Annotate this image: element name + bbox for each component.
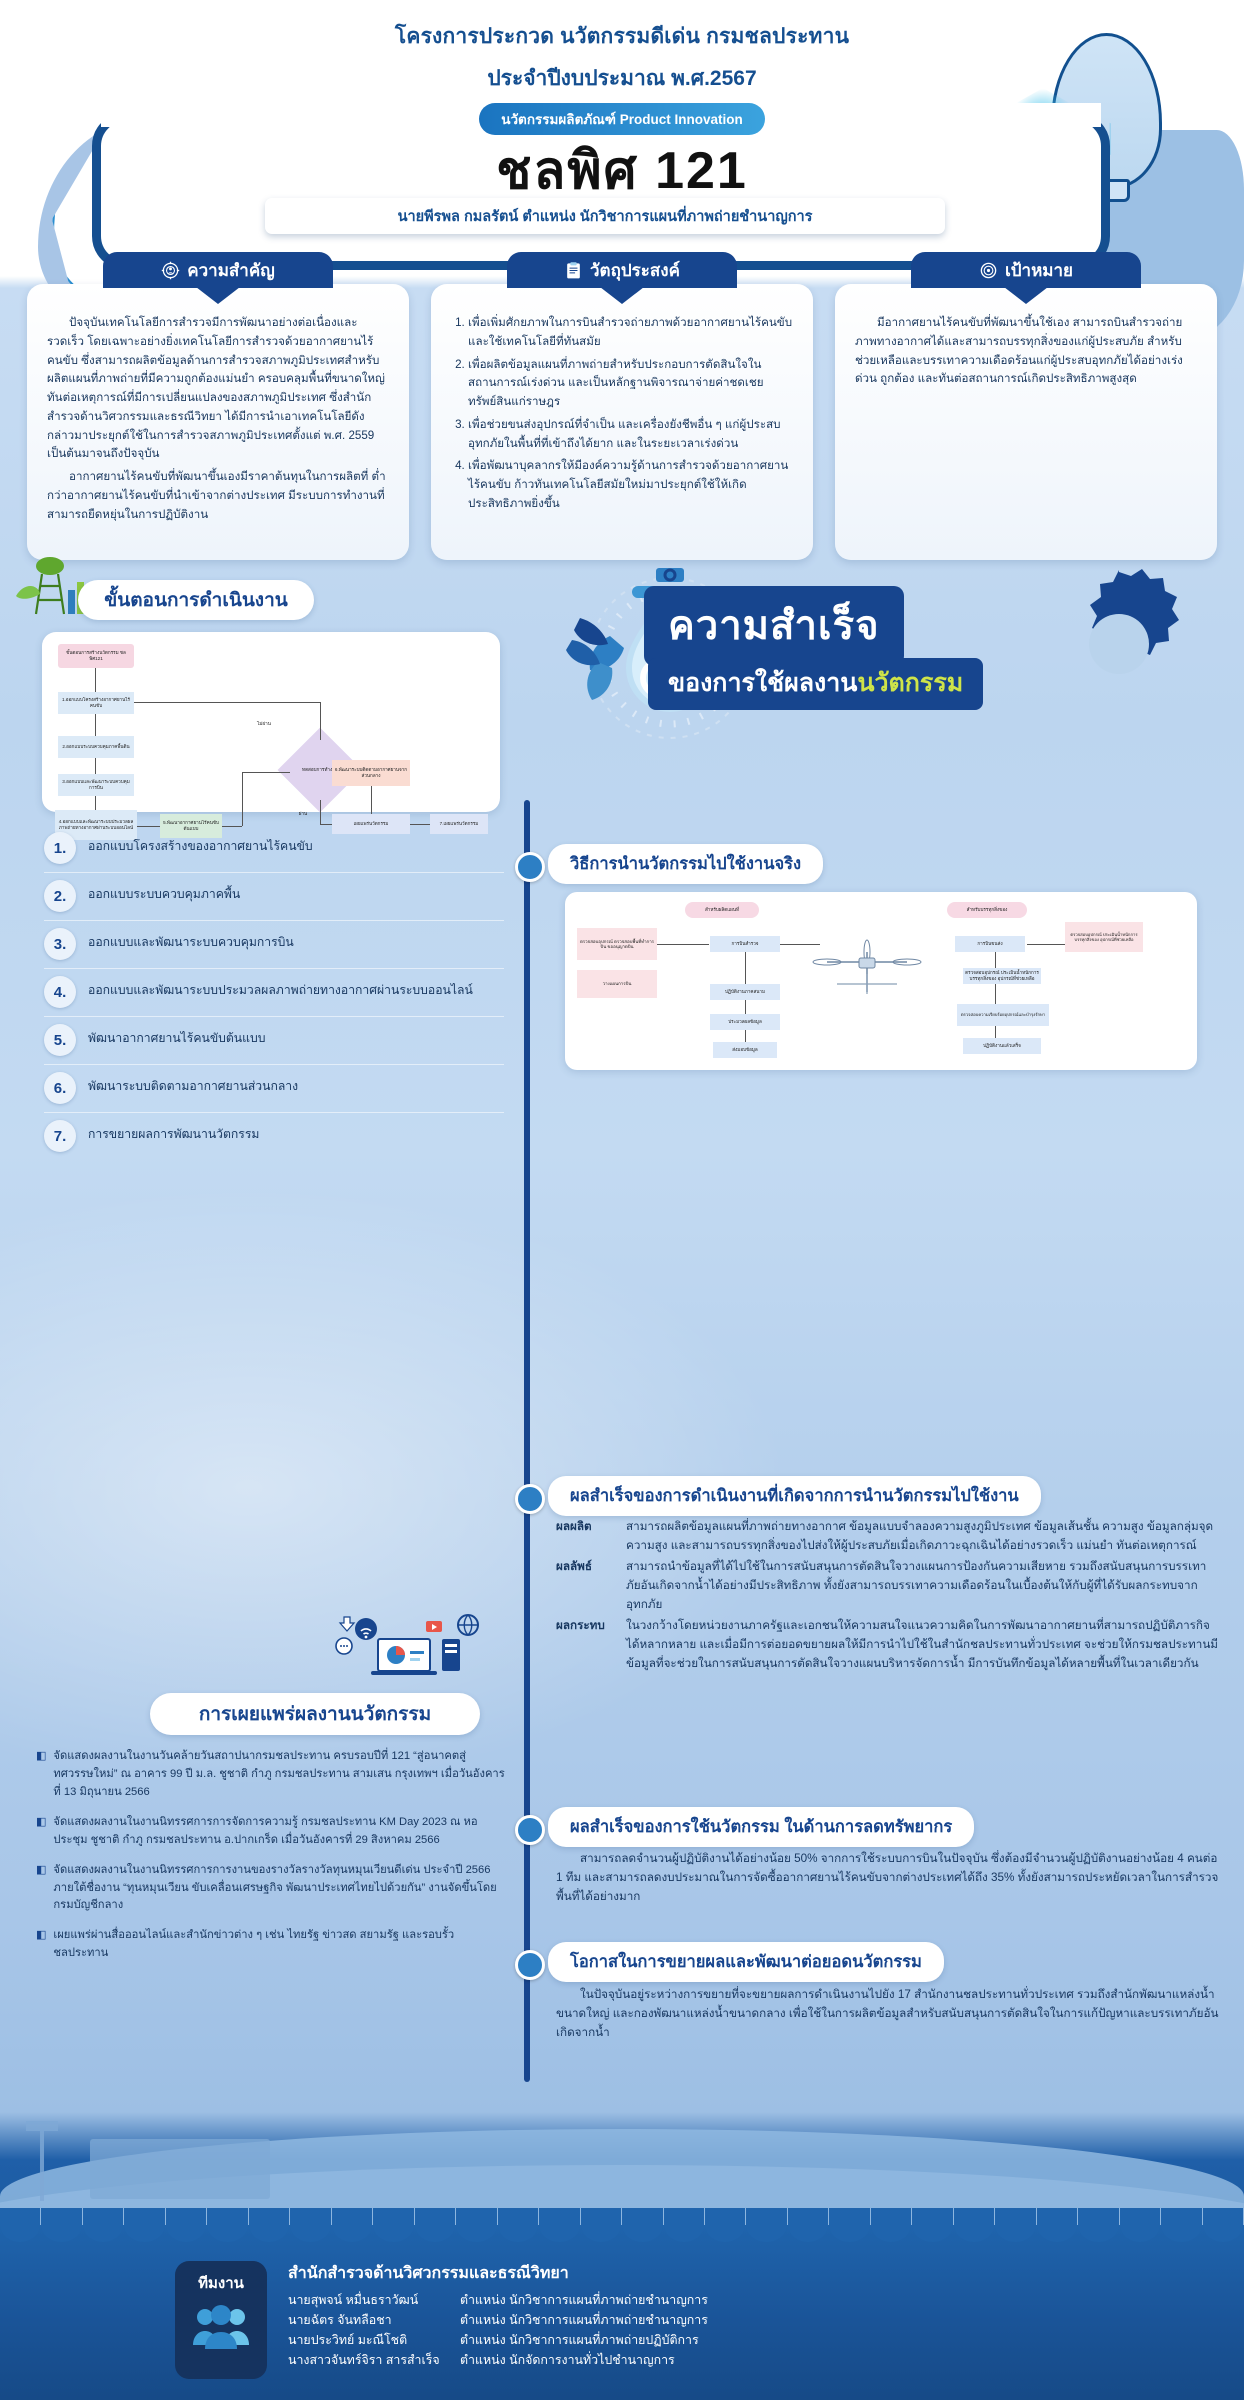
step-number: 2. xyxy=(44,880,76,912)
gear-icon xyxy=(1024,560,1214,720)
team-member-position: ตำแหน่ง นักจัดการงานทั่วไปชำนาญการ xyxy=(460,2350,675,2370)
outcome-row-output: ผลผลิต สามารถผลิตข้อมูลแผนที่ภาพถ่ายทางอ… xyxy=(556,1518,1220,1556)
card-goal-title: เป้าหมาย xyxy=(1005,257,1073,284)
list-item: ◧ จัดแสดงผลงานในงานนิทรรศการการจัดการควา… xyxy=(36,1814,506,1850)
team-label: ทีมงาน xyxy=(198,2271,244,2295)
step-number: 1. xyxy=(44,832,76,864)
list-item: 6. พัฒนาระบบติดตามอากาศยานส่วนกลาง xyxy=(44,1065,504,1113)
diagram-node-cargo: สำหรับบรรทุกสิ่งของ xyxy=(947,902,1027,918)
outcome-text: สามารถผลิตข้อมูลแผนที่ภาพถ่ายทางอากาศ ข้… xyxy=(626,1518,1220,1556)
card-importance-title: ความสำคัญ xyxy=(187,257,274,284)
section-title-expansion: โอกาสในการขยายผลและพัฒนาต่อยอดนวัตกรรม xyxy=(548,1942,944,1982)
step-number: 3. xyxy=(44,928,76,960)
card-goal-header: เป้าหมาย xyxy=(911,252,1141,288)
diagram-node-complete: ปฏิบัติงานแล้วเสร็จ xyxy=(963,1038,1041,1054)
poster-root: โครงการประกวด นวัตกรรมดีเด่น กรมชลประทาน… xyxy=(0,0,1244,2400)
hero-title-line2: ของการใช้ผลงานนวัตกรรม xyxy=(648,658,983,710)
timeline-dot xyxy=(515,1484,545,1514)
flow-spacer xyxy=(300,756,304,760)
step-text: ออกแบบระบบควบคุมภาคพื้น xyxy=(88,880,240,904)
diagram-node-maintenance: ตรวจสอบความเรียบร้อยอุปกรณ์และบำรุงรักษา xyxy=(957,1004,1049,1026)
list-item: ◧ เผยแพร่ผ่านสื่อออนไลน์และสำนักข่าวต่าง… xyxy=(36,1927,506,1963)
card-importance-p2: อากาศยานไร้คนขับที่พัฒนาขึ้นเองมีราคาต้น… xyxy=(47,468,389,524)
flow-connector xyxy=(95,714,96,736)
flow-node-6: 6.พัฒนาระบบติดตามอากาศยานจากส่วนกลาง xyxy=(332,760,410,786)
flow-connector xyxy=(320,800,321,824)
timeline-dot xyxy=(515,1950,545,1980)
outcome-label: ผลผลิต xyxy=(556,1518,618,1556)
table-row: นายสุพจน์ หมื่นธราวัฒน์ ตำแหน่ง นักวิชาก… xyxy=(288,2290,708,2310)
flow-node-2: 2.ออกแบบระบบควบคุมภาคพื้นดิน xyxy=(58,736,134,758)
flow-connector xyxy=(242,772,290,773)
list-item: เพื่อพัฒนาบุคลากรให้มีองค์ความรู้ด้านการ… xyxy=(468,457,793,513)
resource-reduction-body: สามารถลดจำนวนผู้ปฏิบัติงานได้อย่างน้อย 5… xyxy=(556,1850,1220,1907)
clipboard-icon xyxy=(564,261,583,280)
card-goal-p1: มีอากาศยานไร้คนขับที่พัฒนาขึ้นใช้เอง สาม… xyxy=(855,314,1197,389)
flow-connector xyxy=(134,702,320,703)
step-text: การขยายผลการพัฒนานวัตกรรม xyxy=(88,1120,259,1144)
flow-label-fail: ไม่ผ่าน xyxy=(242,718,286,730)
step-text: ออกแบบและพัฒนาระบบประมวลผลภาพถ่ายทางอากา… xyxy=(88,976,473,1000)
diagram-node-transport-flight: การบินขนส่ง xyxy=(955,936,1025,952)
section-title-process: ขั้นตอนการดำเนินงาน xyxy=(78,580,314,620)
section-title-dissemination: การเผยแพร่ผลงานนวัตกรรม xyxy=(150,1693,480,1735)
dissemination-item-text: เผยแพร่ผ่านสื่อออนไลน์และสำนักข่าวต่าง ๆ… xyxy=(53,1927,506,1963)
diagram-node-process: ประมวลผลข้อมูล xyxy=(710,1014,780,1030)
step-text: พัฒนาระบบติดตามอากาศยานส่วนกลาง xyxy=(88,1072,298,1096)
team-organization: สำนักสำรวจด้านวิศวกรรมและธรณีวิทยา xyxy=(288,2261,708,2286)
poster-footer: ทีมงาน สำนักสำรวจด้านวิศวกรรมและธรณีวิทย… xyxy=(0,2225,1244,2400)
diagram-node-deliver: ส่งมอบข้อมูล xyxy=(713,1042,777,1058)
section-title-usage-method: วิธีการนำนวัตกรรมไปใช้งานจริง xyxy=(548,844,823,884)
bullet-icon: ◧ xyxy=(36,1748,46,1802)
step-number: 7. xyxy=(44,1120,76,1152)
card-goal-body: มีอากาศยานไร้คนขับที่พัฒนาขึ้นใช้เอง สาม… xyxy=(835,284,1217,560)
flow-connector xyxy=(95,668,96,692)
flow-label-pass: ผ่าน xyxy=(286,808,320,820)
dissemination-item-text: จัดแสดงผลงานในงานนิทรรศการการงานของรางวั… xyxy=(53,1862,506,1916)
success-timeline xyxy=(524,800,530,2082)
bullet-icon: ◧ xyxy=(36,1814,46,1850)
team-member-position: ตำแหน่ง นักวิชาการแผนที่ภาพถ่ายปฏิบัติกา… xyxy=(460,2330,699,2350)
diagram-node-field-transport: ตรวจสอบอุปกรณ์ ประเมินน้ำหนักการบรรทุกสิ… xyxy=(963,968,1041,984)
dissemination-item-text: จัดแสดงผลงานในงานวันคล้ายวันสถาปนากรมชลป… xyxy=(53,1748,506,1802)
tower-silhouette xyxy=(40,2127,44,2201)
step-number: 6. xyxy=(44,1072,76,1104)
table-row: นายฉัตร จันทลือชา ตำแหน่ง นักวิชาการแผนท… xyxy=(288,2310,708,2330)
card-importance-header: ความสำคัญ xyxy=(103,252,333,288)
list-item: 7. การขยายผลการพัฒนานวัตกรรม xyxy=(44,1113,504,1160)
section-title-resource-reduction: ผลสำเร็จของการใช้นวัตกรรม ในด้านการลดทรั… xyxy=(548,1807,974,1847)
outcome-text: สามารถนำข้อมูลที่ได้ไปใช้ในการสนับสนุนกา… xyxy=(626,1558,1220,1615)
list-item: 5. พัฒนาอากาศยานไร้คนขับต้นแบบ xyxy=(44,1017,504,1065)
bullet-icon: ◧ xyxy=(36,1862,46,1916)
diagram-node-check: ตรวจสอบอุปกรณ์ ตรวจสอบพื้นที่ทำการบิน ขอ… xyxy=(577,928,657,960)
diagram-node-map: สำหรับผลิตแผนที่ xyxy=(685,902,759,918)
step-number: 5. xyxy=(44,1024,76,1056)
list-item: เพื่อเพิ่มศักยภาพในการบินสำรวจถ่ายภาพด้ว… xyxy=(468,314,793,352)
team-info: สำนักสำรวจด้านวิศวกรรมและธรณีวิทยา นายสุ… xyxy=(288,2261,708,2370)
card-objectives-title: วัตถุประสงค์ xyxy=(590,257,680,284)
team-people-icon xyxy=(190,2301,252,2353)
hero-title-line2-a: ของการใช้ผลงาน xyxy=(668,669,857,697)
hero-title-line1: ความสำเร็จ xyxy=(644,586,904,666)
goal-icon xyxy=(979,261,998,280)
table-row: นางสาวจันทร์จิรา สารสำเร็จ ตำแหน่ง นักจั… xyxy=(288,2350,708,2370)
list-item: ◧ จัดแสดงผลงานในงานวันคล้ายวันสถาปนากรมช… xyxy=(36,1748,506,1802)
process-steps-list: 1. ออกแบบโครงสร้างของอากาศยานไร้คนขับ 2.… xyxy=(44,825,504,1160)
team-member-name: นายฉัตร จันทลือชา xyxy=(288,2310,460,2330)
team-member-name: นายสุพจน์ หมื่นธราวัฒน์ xyxy=(288,2290,460,2310)
flow-connector xyxy=(371,786,372,814)
info-cards-row: ความสำคัญ ปัจจุบันเทคโนโลยีการสำรวจมีการ… xyxy=(0,252,1244,560)
section-title-outcomes: ผลสำเร็จของการดำเนินงานที่เกิดจากการนำนว… xyxy=(548,1476,1041,1516)
flow-connector xyxy=(320,702,321,740)
step-text: พัฒนาอากาศยานไร้คนขับต้นแบบ xyxy=(88,1024,265,1048)
outcome-label: ผลกระทบ xyxy=(556,1617,618,1674)
usage-flow-diagram: สำหรับผลิตแผนที่ สำหรับบรรทุกสิ่งของ ตรว… xyxy=(565,892,1197,1070)
contest-title-line2: ประจำปีงบประมาณ พ.ศ.2567 xyxy=(0,62,1244,95)
timeline-dot xyxy=(515,1815,545,1845)
flow-connector xyxy=(95,758,96,774)
team-badge: ทีมงาน xyxy=(175,2261,267,2379)
list-item: ◧ จัดแสดงผลงานในงานนิทรรศการการงานของราง… xyxy=(36,1862,506,1916)
dissemination-list: ◧ จัดแสดงผลงานในงานวันคล้ายวันสถาปนากรมช… xyxy=(36,1748,506,1975)
card-importance-body: ปัจจุบันเทคโนโลยีการสำรวจมีการพัฒนาอย่าง… xyxy=(27,284,409,560)
outcome-text: ในวงกว้างโดยหน่วยงานภาครัฐและเอกชนให้ควา… xyxy=(626,1617,1220,1674)
flow-connector xyxy=(242,772,243,826)
bullet-icon: ◧ xyxy=(36,1927,46,1963)
card-objectives-body: เพื่อเพิ่มศักยภาพในการบินสำรวจถ่ายภาพด้ว… xyxy=(431,284,813,560)
outcome-label: ผลลัพธ์ xyxy=(556,1558,618,1615)
list-item: เพื่อผลิตข้อมูลแผนที่ภาพถ่ายสำหรับประกอบ… xyxy=(468,356,793,412)
objectives-list: เพื่อเพิ่มศักยภาพในการบินสำรวจถ่ายภาพด้ว… xyxy=(451,314,793,514)
step-text: ออกแบบและพัฒนาระบบควบคุมการบิน xyxy=(88,928,294,952)
list-item: 4. ออกแบบและพัฒนาระบบประมวลผลภาพถ่ายทางอ… xyxy=(44,969,504,1017)
flow-node-3: 3.ออกแบบและพัฒนาระบบควบคุมการบิน xyxy=(58,774,134,796)
team-member-position: ตำแหน่ง นักวิชาการแผนที่ภาพถ่ายชำนาญการ xyxy=(460,2310,708,2330)
card-importance: ความสำคัญ ปัจจุบันเทคโนโลยีการสำรวจมีการ… xyxy=(27,252,409,560)
diagram-node-weight-check: ตรวจสอบอุปกรณ์ ประเมินน้ำหนักการบรรทุกสิ… xyxy=(1065,922,1143,952)
step-text: ออกแบบโครงสร้างของอากาศยานไร้คนขับ xyxy=(88,832,313,856)
target-icon xyxy=(161,261,180,280)
process-flowchart: ขั้นตอนการสร้างนวัตกรรม ชลพิศ121 1.ออกแบ… xyxy=(42,632,500,812)
list-item: 2. ออกแบบระบบควบคุมภาคพื้น xyxy=(44,873,504,921)
card-goal: เป้าหมาย มีอากาศยานไร้คนขับที่พัฒนาขึ้นใ… xyxy=(835,252,1217,560)
flow-connector xyxy=(95,796,96,810)
header-text-block: โครงการประกวด นวัตกรรมดีเด่น กรมชลประทาน… xyxy=(0,20,1244,135)
outcome-row-result: ผลลัพธ์ สามารถนำข้อมูลที่ได้ไปใช้ในการสน… xyxy=(556,1558,1220,1615)
success-hero: ความสำเร็จ ของการใช้ผลงานนวัตกรรม xyxy=(520,566,1244,766)
card-importance-p1: ปัจจุบันเทคโนโลยีการสำรวจมีการพัฒนาอย่าง… xyxy=(47,314,389,464)
list-item: เพื่อช่วยขนส่งอุปกรณ์ที่จำเป็น และเครื่อ… xyxy=(468,416,793,454)
outcome-row-impact: ผลกระทบ ในวงกว้างโดยหน่วยงานภาครัฐและเอก… xyxy=(556,1617,1220,1674)
diagram-node-plan: วางแผนการบิน xyxy=(577,970,657,998)
table-row: นายประวิทย์ มะณีโชติ ตำแหน่ง นักวิชาการแ… xyxy=(288,2330,708,2350)
contest-title-line1: โครงการประกวด นวัตกรรมดีเด่น กรมชลประทาน xyxy=(0,20,1244,53)
dissemination-item-text: จัดแสดงผลงานในงานนิทรรศการการจัดการความร… xyxy=(53,1814,506,1850)
card-objectives-header: วัตถุประสงค์ xyxy=(507,252,737,288)
flow-node-1: 1.ออกแบบโครงสร้างอากาศยานไร้คนขับ xyxy=(58,692,134,714)
flow-node-start: ขั้นตอนการสร้างนวัตกรรม ชลพิศ121 xyxy=(58,644,134,668)
list-item: 1. ออกแบบโครงสร้างของอากาศยานไร้คนขับ xyxy=(44,825,504,873)
list-item: 3. ออกแบบและพัฒนาระบบควบคุมการบิน xyxy=(44,921,504,969)
outcomes-body: ผลผลิต สามารถผลิตข้อมูลแผนที่ภาพถ่ายทางอ… xyxy=(556,1518,1220,1676)
timeline-dot xyxy=(515,852,545,882)
card-objectives: วัตถุประสงค์ เพื่อเพิ่มศักยภาพในการบินสำ… xyxy=(431,252,813,560)
dam-silhouette xyxy=(90,2139,270,2199)
digital-media-icon xyxy=(330,1613,480,1685)
diagram-node-fieldwork: ปฏิบัติงานภาคสนาม xyxy=(710,984,780,1000)
team-member-position: ตำแหน่ง นักวิชาการแผนที่ภาพถ่ายชำนาญการ xyxy=(460,2290,708,2310)
team-member-name: นายประวิทย์ มะณีโชติ xyxy=(288,2330,460,2350)
scallop-edge xyxy=(0,2208,1244,2230)
author-bar: นายพีรพล กมลรัตน์ ตำแหน่ง นักวิชาการแผนท… xyxy=(265,198,945,234)
landscape-decoration xyxy=(0,2035,1244,2225)
team-member-name: นางสาวจันทร์จิรา สารสำเร็จ xyxy=(288,2350,460,2370)
step-number: 4. xyxy=(44,976,76,1008)
diagram-node-survey-flight: การบินสำรวจ xyxy=(710,936,780,952)
hero-title-line2-b: นวัตกรรม xyxy=(857,669,963,697)
